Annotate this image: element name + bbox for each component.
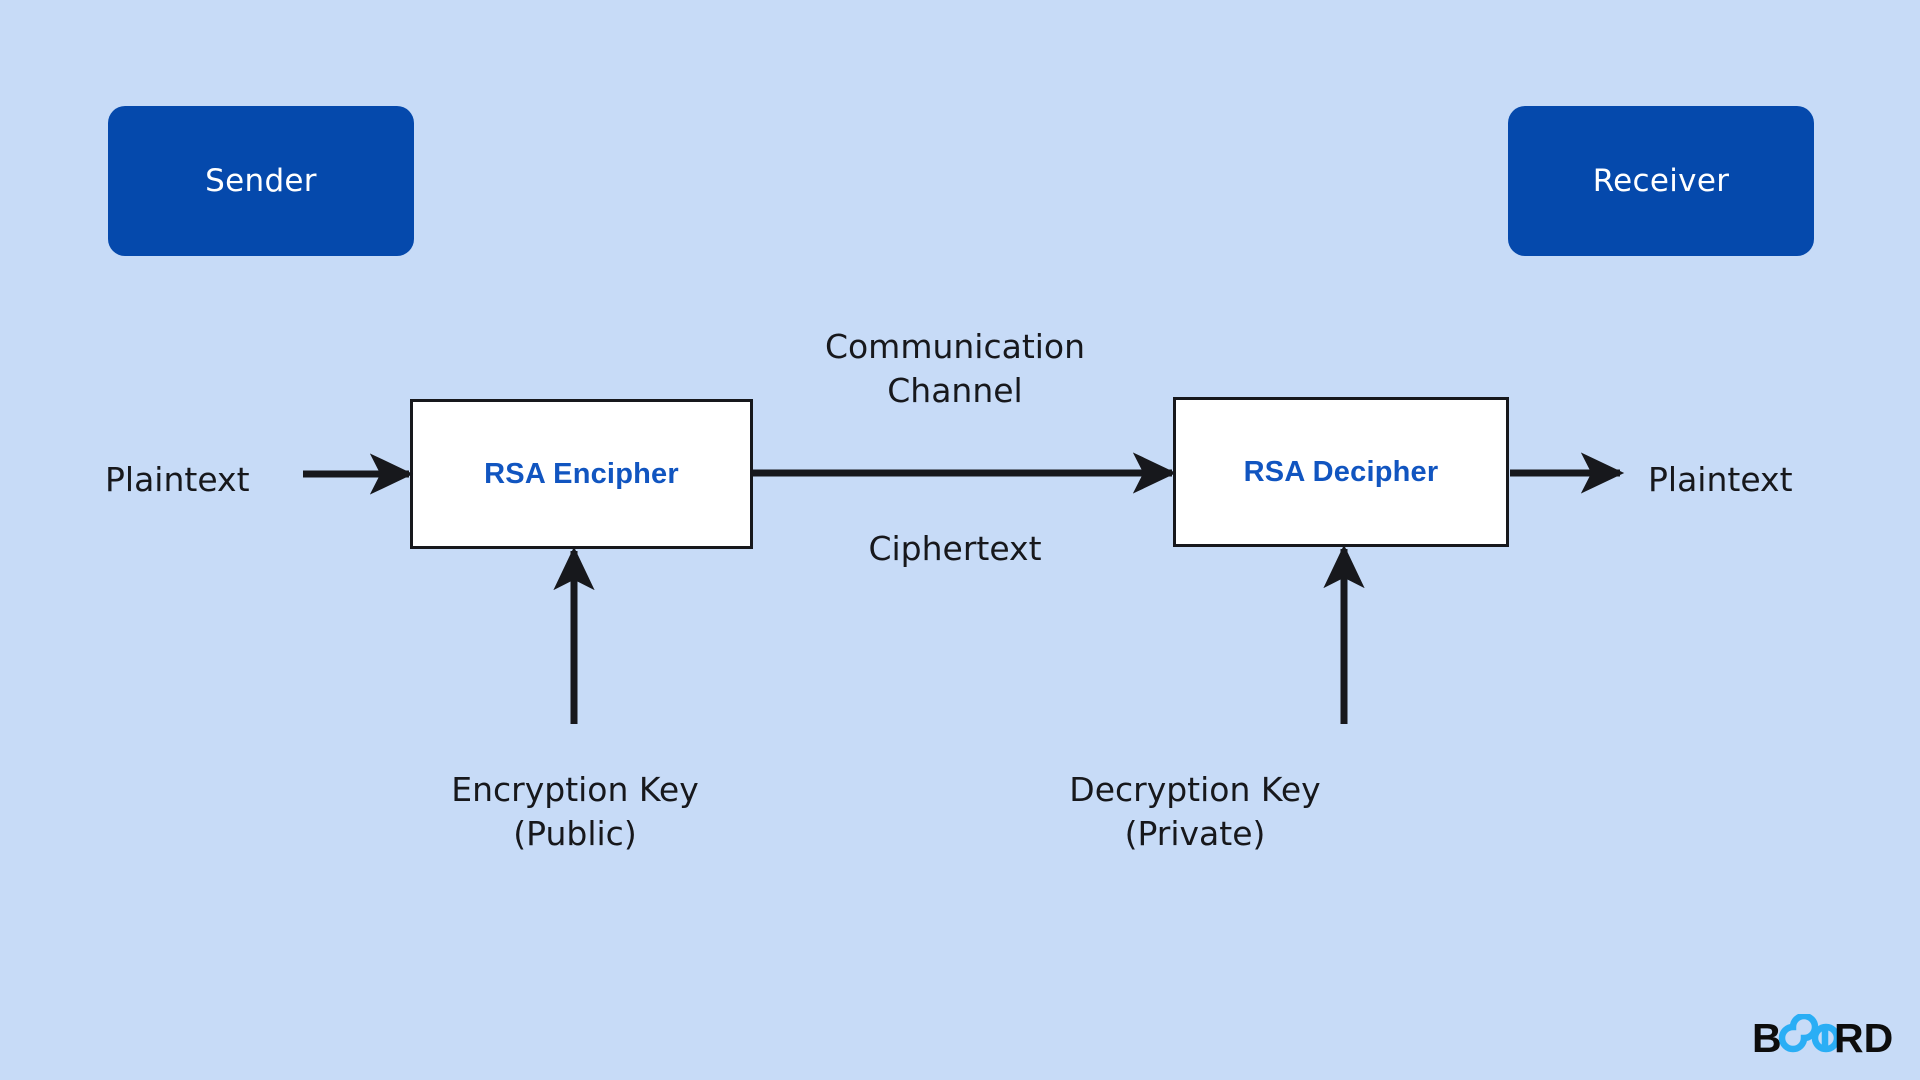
communication-channel-line-2: Channel [800, 369, 1110, 413]
encryption-key-line-2: (Public) [400, 812, 750, 856]
logo-text-b: B [1752, 1015, 1782, 1061]
encryption-key-line-1: Encryption Key [400, 768, 750, 812]
diagram-canvas: Sender Receiver RSA Encipher RSA Deciphe… [0, 0, 1920, 1080]
rsa-decipher-box[interactable]: RSA Decipher [1173, 397, 1509, 547]
ciphertext-label: Ciphertext [800, 527, 1110, 571]
receiver-box[interactable]: Receiver [1508, 106, 1814, 256]
rsa-encipher-label: RSA Encipher [484, 458, 679, 491]
rsa-decipher-label: RSA Decipher [1244, 456, 1439, 489]
sender-box[interactable]: Sender [108, 106, 414, 256]
decryption-key-line-1: Decryption Key [1020, 768, 1370, 812]
communication-channel-line-1: Communication [800, 325, 1110, 369]
sender-label: Sender [205, 163, 317, 199]
rsa-encipher-box[interactable]: RSA Encipher [410, 399, 753, 549]
board-logo: B RD [1752, 1014, 1892, 1062]
plaintext-input-label: Plaintext [105, 458, 250, 502]
logo-infinity-icon [1782, 1016, 1837, 1049]
plaintext-output-label: Plaintext [1648, 458, 1793, 502]
encryption-key-label: Encryption Key (Public) [400, 768, 750, 856]
receiver-label: Receiver [1593, 163, 1730, 199]
decryption-key-line-2: (Private) [1020, 812, 1370, 856]
communication-channel-label: Communication Channel [800, 325, 1110, 413]
logo-text-rd: RD [1834, 1015, 1892, 1061]
decryption-key-label: Decryption Key (Private) [1020, 768, 1370, 856]
